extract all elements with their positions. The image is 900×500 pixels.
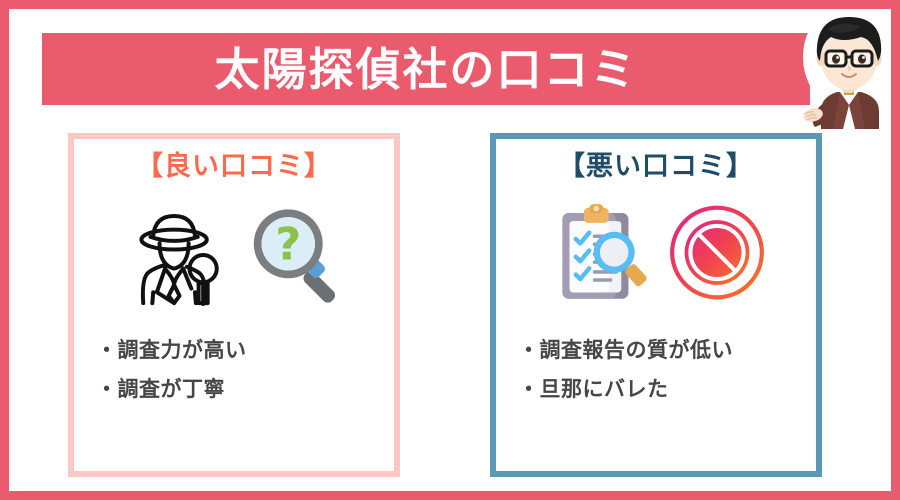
page-title: 太陽探偵社の口コミ — [214, 47, 637, 92]
detective-icon — [116, 196, 234, 319]
title-banner: 太陽探偵社の口コミ — [42, 33, 810, 105]
card-bad-title: 【悪い口コミ】 — [496, 151, 816, 183]
card-good-list: ・調査力が高い ・調査が丁寧 — [74, 331, 394, 409]
list-item: ・調査力が高い — [96, 331, 394, 370]
card-good-title: 【良い口コミ】 — [74, 151, 394, 183]
card-bad-icons — [496, 189, 816, 325]
prohibition-icon — [663, 201, 771, 314]
infographic-root: 太陽探偵社の口コミ — [0, 0, 900, 500]
list-item: ・調査が丁寧 — [96, 370, 394, 409]
svg-text:?: ? — [275, 217, 301, 270]
list-item: ・調査報告の質が低い — [518, 331, 816, 370]
magnifier-question-icon: ? — [240, 199, 352, 316]
card-bad-list: ・調査報告の質が低い ・旦那にバレた — [496, 331, 816, 409]
card-good-reviews: 【良い口コミ】 — [68, 133, 400, 477]
card-bad-reviews: 【悪い口コミ】 — [490, 133, 822, 477]
presenter-avatar — [799, 0, 895, 129]
clipboard-search-icon — [541, 197, 657, 318]
card-good-icons: ? — [74, 189, 394, 325]
list-item: ・旦那にバレた — [518, 370, 816, 409]
